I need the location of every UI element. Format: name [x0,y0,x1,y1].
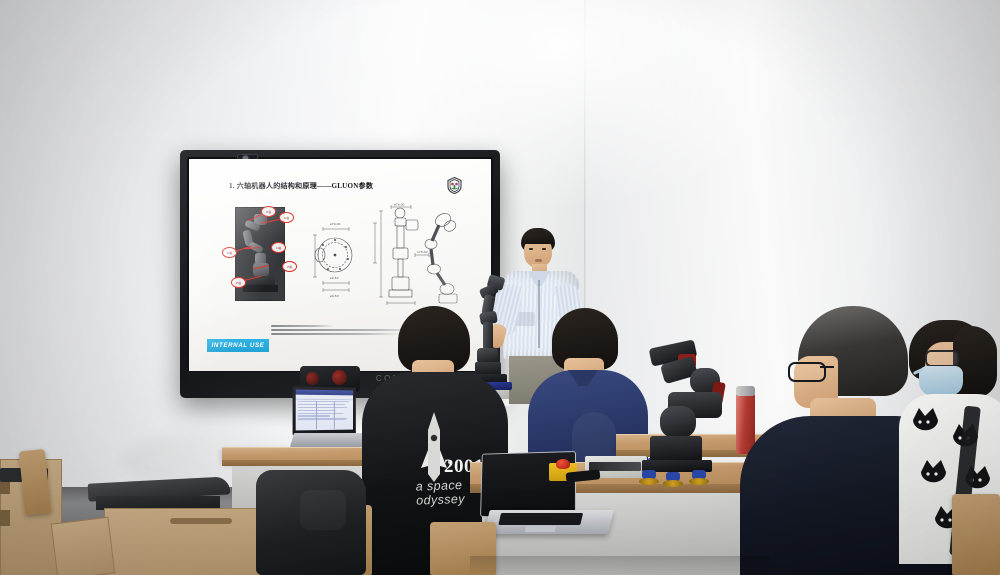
emergency-stop-button[interactable] [556,459,570,469]
arm-base-block [650,436,702,462]
svg-text:⌀9.50: ⌀9.50 [330,276,339,280]
classroom-scene: 1. 六轴机器人的结构和原理——GLUON参数 J1轴 J2轴 J3轴 J4轴 … [0,0,1000,575]
chair-right [952,494,1000,575]
grid-divider [316,401,317,429]
robot-arm-suction-base [638,344,746,490]
svg-text:176.00: 176.00 [417,250,428,254]
backpack-pocket [300,490,346,530]
face-mask-icon [919,366,963,396]
slide-callout: J1轴 [261,206,276,217]
slide-drawing-side-iso: ⌀76.00176.00 [367,203,463,311]
svg-text:⌀4.50: ⌀4.50 [330,294,339,298]
cardboard-box-flap [51,517,116,575]
eyeglasses-icon [925,350,959,367]
eyeglasses-temple [820,366,834,368]
slide-callout: J6轴 [231,277,246,288]
internal-use-badge: INTERNAL USE [207,339,269,352]
presenter-fringe [522,234,554,244]
svg-text:⌀76.00: ⌀76.00 [330,222,340,226]
rig-knob [332,370,347,385]
box-handle [0,510,10,526]
slide-callout: J2轴 [279,212,294,223]
suction-cup [663,480,683,487]
box-handle-slot [170,518,232,524]
slide-body-line [271,325,334,327]
app-toolbar [296,395,353,401]
suction-cup [689,478,709,485]
spreadsheet-grid [298,401,351,430]
slide-callout: J5轴 [282,261,297,272]
macbook-base[interactable] [484,510,614,534]
grid-divider [334,401,335,429]
rig-knob [306,372,319,385]
slide-callout: J3轴 [222,247,237,258]
presenter-eye [542,248,546,250]
laptop-spreadsheet-keyboard[interactable] [290,433,370,447]
macbook-trackpad[interactable] [525,526,556,532]
arm-base-joint [660,406,696,438]
suction-cup [639,478,659,485]
laptop-spreadsheet-screen[interactable] [296,390,353,431]
presenter-mouth [535,259,542,262]
eyeglasses-icon [788,362,826,382]
thermos-cap [736,386,755,396]
slide-title: 1. 六轴机器人的结构和原理——GLUON参数 [229,181,459,191]
company-shield-logo-icon [447,177,462,194]
table-shadow [470,556,770,575]
svg-text:⌀76.00: ⌀76.00 [394,203,404,206]
laptop-spreadsheet-lid [293,386,356,435]
macbook-keyboard[interactable] [498,513,583,525]
slide-callout: J4轴 [271,242,286,253]
presenter-eye [529,248,533,250]
slide-drawing-top-view: ⌀76.00⌀9.50 ⌀4.50 [309,209,361,305]
